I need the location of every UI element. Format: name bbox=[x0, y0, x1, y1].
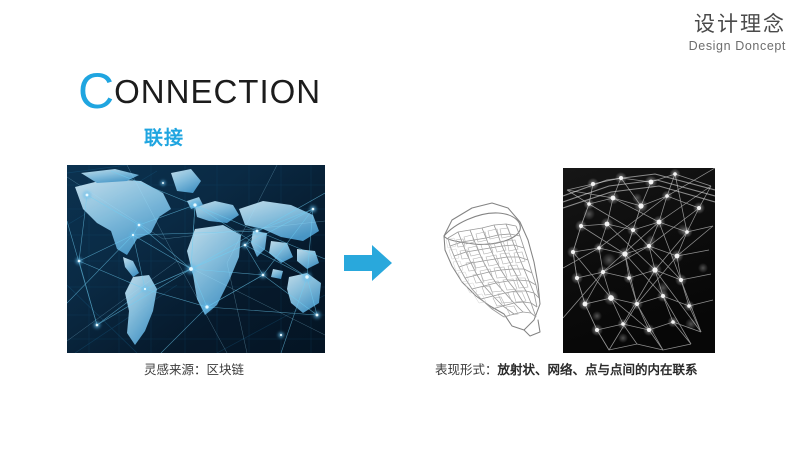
figure-world-map-network bbox=[67, 165, 325, 353]
world-map-network-graphic bbox=[67, 165, 325, 353]
slide-header: 设计理念 Design Doncept bbox=[689, 14, 786, 53]
voronoi-mesh-graphic bbox=[428, 180, 563, 345]
figure-voronoi-mesh bbox=[428, 180, 563, 345]
slide-canvas: 设计理念 Design Doncept CONNECTION 联接 bbox=[0, 0, 800, 450]
caption-left: 灵感来源：区块链 bbox=[144, 364, 244, 377]
caption-left-label: 灵感来源： bbox=[144, 363, 207, 377]
page-title: CONNECTION bbox=[78, 66, 321, 116]
header-title-en: Design Doncept bbox=[689, 40, 786, 53]
figure-node-network-dark bbox=[563, 168, 715, 353]
title-initial-letter: C bbox=[78, 63, 114, 119]
caption-right-value: 放射状、网络、点与点间的内在联系 bbox=[498, 363, 698, 377]
title-rest-letters: ONNECTION bbox=[114, 73, 321, 110]
page-subtitle: 联接 bbox=[144, 129, 321, 148]
arrow-right-icon bbox=[342, 243, 394, 283]
caption-left-value: 区块链 bbox=[207, 363, 245, 377]
caption-right-label: 表现形式： bbox=[435, 363, 498, 377]
arrow-right-glyph bbox=[342, 243, 394, 283]
node-network-dark-graphic bbox=[563, 168, 715, 353]
header-title-cn: 设计理念 bbox=[689, 14, 786, 35]
caption-right: 表现形式：放射状、网络、点与点间的内在联系 bbox=[435, 364, 698, 377]
title-block: CONNECTION 联接 bbox=[78, 66, 321, 148]
